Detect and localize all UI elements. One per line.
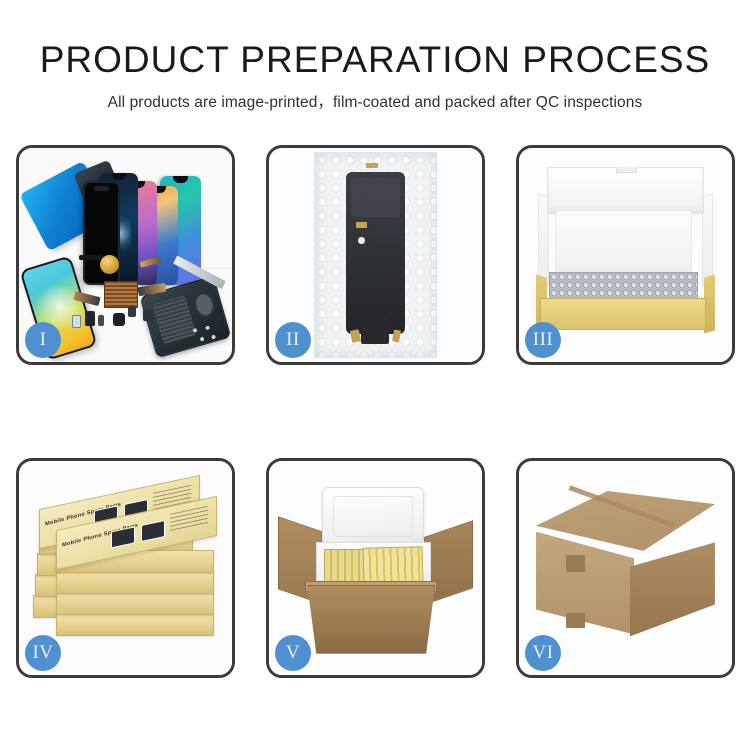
page-title: PRODUCT PREPARATION PROCESS (0, 38, 750, 82)
camera-module-a-icon (85, 311, 95, 326)
step-badge-6: VI (525, 635, 561, 671)
stacked-box-front-1 (56, 613, 213, 636)
connector-icon (358, 237, 364, 244)
step-badge-4: IV (25, 635, 61, 671)
carton-tape-lower (566, 613, 585, 628)
earpiece-icon (143, 309, 154, 322)
sealed-carton-side (630, 542, 715, 636)
bubble-wrap-bag-icon (314, 152, 438, 357)
step-panel-4[interactable]: Mobile Phone Spare Parts Mobile Phone Sp… (16, 458, 235, 678)
box-lid-icon (547, 167, 705, 214)
box-stack: Mobile Phone Spare Parts Mobile Phone Sp… (30, 487, 222, 662)
box-window-2b (142, 519, 166, 542)
box-bullet-text-2 (170, 506, 208, 534)
camera-module-c-icon (128, 306, 137, 317)
bubble-padding-icon (549, 272, 698, 300)
screws-icon (189, 324, 219, 345)
wrapped-screen-icon (346, 172, 404, 335)
yellow-boxes-row-2 (362, 546, 423, 584)
foam-sheet-icon (555, 210, 691, 274)
sim-tray-icon (72, 315, 81, 328)
step-panel-2[interactable]: II (266, 145, 485, 365)
step-panel-6[interactable]: VI (516, 458, 735, 678)
step-badge-1: I (25, 322, 61, 358)
header: PRODUCT PREPARATION PROCESS All products… (0, 0, 750, 115)
tape-4-icon (392, 330, 401, 343)
flex-cable-a-icon (79, 255, 102, 260)
carton-tape-upper (566, 555, 585, 572)
camera-module-b-icon (113, 313, 126, 326)
process-step-grid: I II (16, 145, 735, 678)
button-part-icon (98, 315, 104, 326)
step-badge-2: II (275, 322, 311, 358)
sealed-carton-front (536, 532, 634, 635)
stacked-box-front-2 (56, 592, 213, 615)
step-panel-5[interactable]: V (266, 458, 485, 678)
carton-body (307, 585, 435, 653)
product-preparation-page: PRODUCT PREPARATION PROCESS All products… (0, 0, 750, 750)
tape-2-icon (356, 222, 367, 227)
step-badge-5: V (275, 635, 311, 671)
stacked-box-front-3 (56, 571, 213, 594)
styrofoam-lid-icon (322, 487, 424, 547)
kraft-box-front (540, 298, 706, 330)
step-panel-1[interactable]: I (16, 145, 235, 365)
step-badge-3: III (525, 322, 561, 358)
step-panel-3[interactable]: III (516, 145, 735, 365)
chip-grid-icon (104, 281, 138, 309)
tape-1-icon (366, 163, 378, 168)
page-subtitle: All products are image-printed，film-coat… (0, 91, 750, 115)
